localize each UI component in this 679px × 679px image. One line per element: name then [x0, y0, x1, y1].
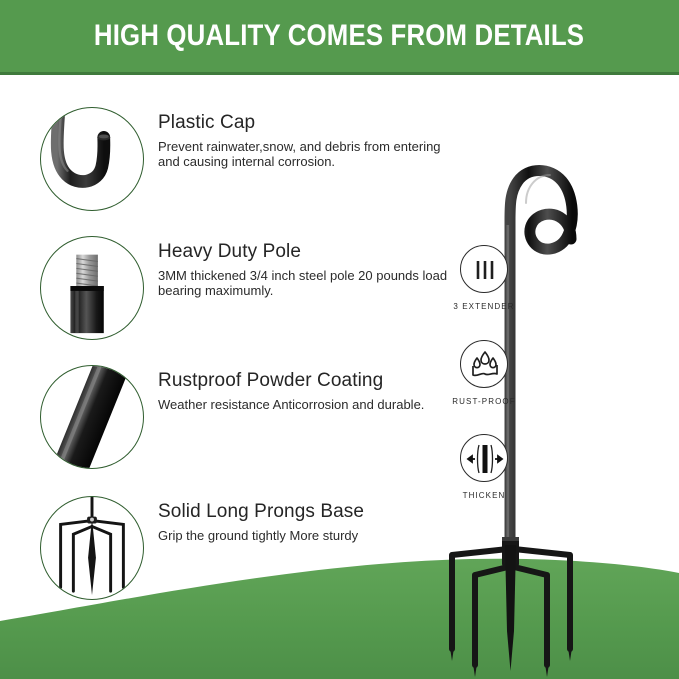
badge-thicken: THICKEN: [437, 434, 531, 500]
badge-icon-frame: [460, 340, 508, 388]
feature-text: Plastic Cap Prevent rainwater,snow, and …: [158, 111, 448, 169]
badge-label: RUST-PROOF: [437, 397, 531, 406]
feature-title: Plastic Cap: [158, 111, 448, 135]
badge-label: 3 EXTENDER: [437, 302, 531, 311]
badge-label: THICKEN: [437, 491, 531, 500]
hook-cap-photo: [41, 108, 143, 210]
feature-list: Plastic Cap Prevent rainwater,snow, and …: [0, 75, 450, 635]
feature-text: Heavy Duty Pole 3MM thickened 3/4 inch s…: [158, 240, 448, 298]
feature-description: 3MM thickened 3/4 inch steel pole 20 pou…: [158, 268, 448, 298]
plastic-cap-photo-frame: [40, 107, 144, 211]
three-bars-icon: [461, 246, 509, 294]
heavy-duty-pole-photo-frame: [40, 236, 144, 340]
prongs-base-photo: [41, 497, 143, 599]
feature-title: Rustproof Powder Coating: [158, 369, 448, 393]
badge-3-extender: 3 EXTENDER: [437, 245, 531, 311]
feature-item: Solid Long Prongs Base Grip the ground t…: [0, 496, 450, 612]
feature-text: Rustproof Powder Coating Weather resista…: [158, 369, 448, 412]
prongs-base-photo-frame: [40, 496, 144, 600]
rustproof-coating-photo-frame: [40, 365, 144, 469]
feature-item: Heavy Duty Pole 3MM thickened 3/4 inch s…: [0, 236, 450, 352]
page-title: HIGH QUALITY COMES FROM DETAILS: [94, 19, 584, 53]
threaded-pole-photo: [41, 237, 143, 339]
thickness-arrows-icon: [461, 435, 509, 483]
product-infographic: HIGH QUALITY COMES FROM DETAILS: [0, 0, 679, 679]
feature-description: Grip the ground tightly More sturdy: [158, 528, 448, 543]
feature-title: Solid Long Prongs Base: [158, 500, 448, 524]
feature-description: Weather resistance Anticorrosion and dur…: [158, 397, 448, 412]
feature-text: Solid Long Prongs Base Grip the ground t…: [158, 500, 448, 543]
feature-item: Plastic Cap Prevent rainwater,snow, and …: [0, 107, 450, 223]
coated-pole-photo: [41, 366, 143, 468]
badge-icon-frame: [460, 245, 508, 293]
water-droplets-icon: [461, 341, 509, 389]
feature-description: Prevent rainwater,snow, and debris from …: [158, 139, 448, 169]
feature-item: Rustproof Powder Coating Weather resista…: [0, 365, 450, 481]
badge-rust-proof: RUST-PROOF: [437, 340, 531, 406]
badge-icon-frame: [460, 434, 508, 482]
header-banner: HIGH QUALITY COMES FROM DETAILS: [0, 0, 679, 75]
feature-title: Heavy Duty Pole: [158, 240, 448, 264]
